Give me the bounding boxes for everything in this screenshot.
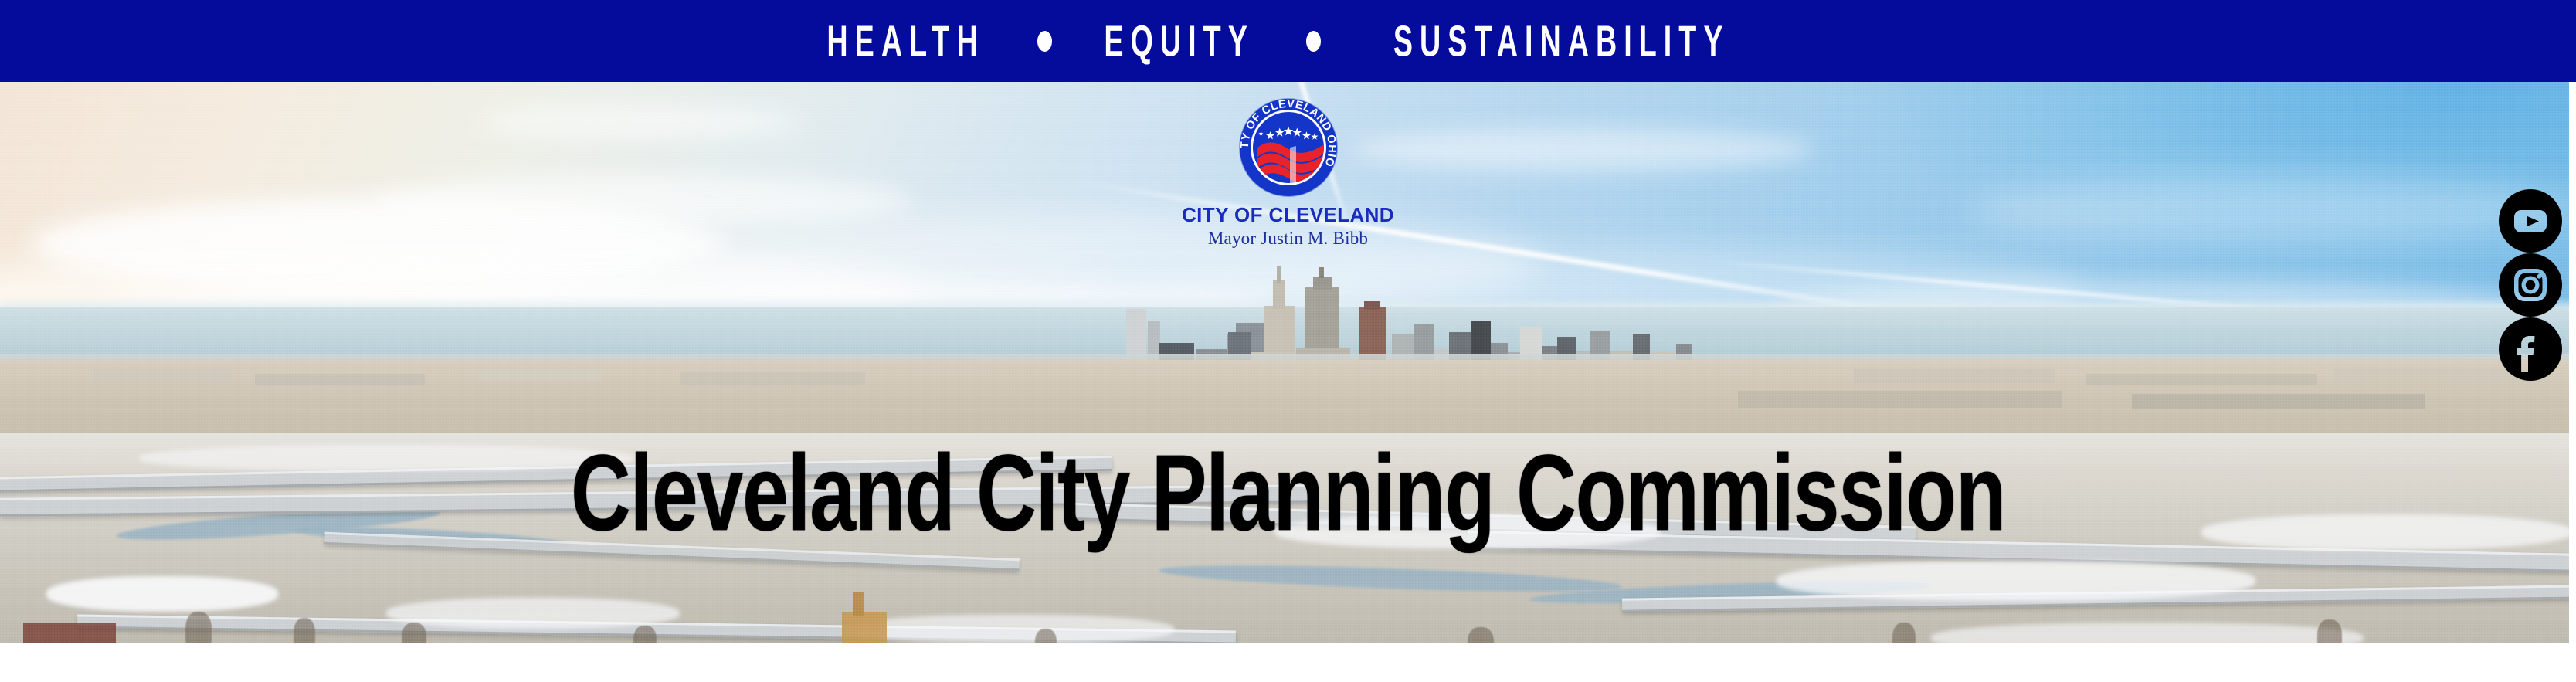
- tagline-banner: HEALTH EQUITY SUSTAINABILITY: [0, 0, 2576, 82]
- bullet-separator-icon: [1037, 31, 1052, 52]
- bottom-white-strip: [0, 643, 2576, 682]
- mayor-name: Mayor Justin M. Bibb: [1126, 229, 1451, 249]
- tagline-banner-inner: HEALTH EQUITY SUSTAINABILITY: [809, 23, 1767, 59]
- tagline-word-health: HEALTH: [826, 19, 984, 63]
- youtube-icon[interactable]: [2499, 189, 2562, 253]
- page-root: HEALTH EQUITY SUSTAINABILITY: [0, 0, 2576, 682]
- right-white-strip: [2569, 82, 2576, 643]
- social-links: [2499, 189, 2562, 381]
- bullet-separator-icon: [1306, 31, 1321, 52]
- seal-inner-disc: [1251, 110, 1326, 185]
- city-logo-block: CITY OF CLEVELAND OHIO: [1126, 99, 1451, 249]
- instagram-icon[interactable]: [2499, 253, 2562, 317]
- tagline-word-equity: EQUITY: [1104, 19, 1254, 63]
- city-of-cleveland-seal-icon: CITY OF CLEVELAND OHIO: [1240, 99, 1337, 196]
- facebook-icon[interactable]: [2499, 317, 2562, 381]
- tagline-word-sustainability: SUSTAINABILITY: [1393, 19, 1730, 63]
- org-name: CITY OF CLEVELAND: [1126, 203, 1451, 227]
- page-title: Cleveland City Planning Commission: [0, 439, 2576, 547]
- seal-flag-icon: [1256, 135, 1325, 185]
